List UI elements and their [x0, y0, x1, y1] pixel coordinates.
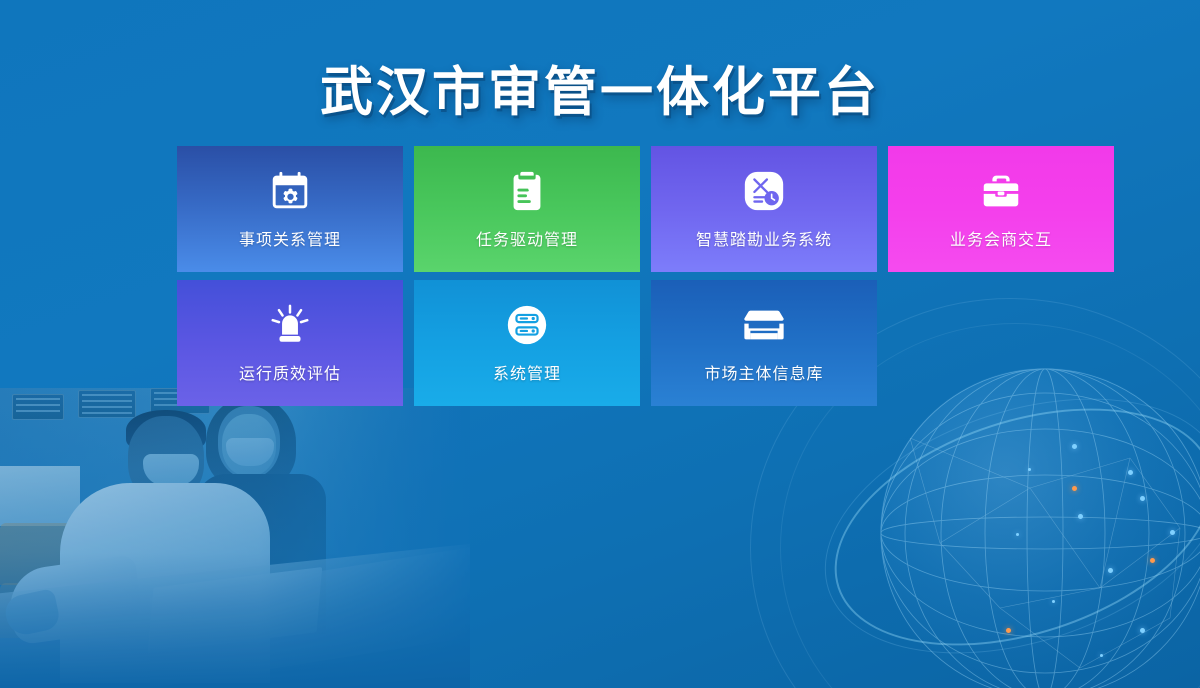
tile-label: 事项关系管理	[239, 226, 341, 250]
network-node	[1078, 514, 1083, 519]
page-title: 武汉市审管一体化平台	[0, 50, 1200, 126]
photo-blue-overlay	[0, 388, 470, 688]
tile-label: 运行质效评估	[239, 360, 341, 384]
tile-operation-quality-assessment[interactable]: 运行质效评估	[177, 280, 403, 406]
platform-home-screen: 武汉市审管一体化平台 事项关系管理 任务驱动管理	[0, 0, 1200, 688]
tile-matter-relation-management[interactable]: 事项关系管理	[177, 146, 403, 272]
tile-label: 市场主体信息库	[704, 360, 823, 384]
tile-system-management[interactable]: 系统管理	[414, 280, 640, 406]
network-node	[1140, 496, 1145, 501]
tile-task-driven-management[interactable]: 任务驱动管理	[414, 146, 640, 272]
briefcase-icon	[978, 168, 1024, 214]
network-node	[1170, 530, 1175, 535]
server-database-icon	[504, 302, 550, 348]
network-node-alt	[1072, 486, 1077, 491]
network-node-alt	[1150, 558, 1155, 563]
module-tile-grid: 事项关系管理 任务驱动管理	[177, 146, 1117, 406]
tile-market-entity-information-base[interactable]: 市场主体信息库	[651, 280, 877, 406]
tile-smart-survey-system[interactable]: 智慧踏勘业务系统	[651, 146, 877, 272]
network-node	[1140, 628, 1145, 633]
network-node	[1100, 654, 1103, 657]
network-node-alt	[1006, 628, 1011, 633]
tile-label: 业务会商交互	[950, 226, 1052, 250]
clipboard-gear-icon	[504, 168, 550, 214]
service-counter-photo	[0, 388, 470, 688]
network-node	[1108, 568, 1113, 573]
tile-label: 智慧踏勘业务系统	[696, 226, 832, 250]
network-node	[1128, 470, 1133, 475]
calendar-gear-icon	[267, 168, 313, 214]
tile-business-consultation-interaction[interactable]: 业务会商交互	[888, 146, 1114, 272]
storefront-icon	[741, 302, 787, 348]
network-node	[1072, 444, 1077, 449]
network-node	[1028, 468, 1031, 471]
tile-label: 任务驱动管理	[476, 226, 578, 250]
network-node	[1052, 600, 1055, 603]
alarm-beacon-icon	[267, 302, 313, 348]
survey-tools-clock-icon	[741, 168, 787, 214]
network-node	[1016, 533, 1019, 536]
tile-label: 系统管理	[493, 360, 561, 384]
